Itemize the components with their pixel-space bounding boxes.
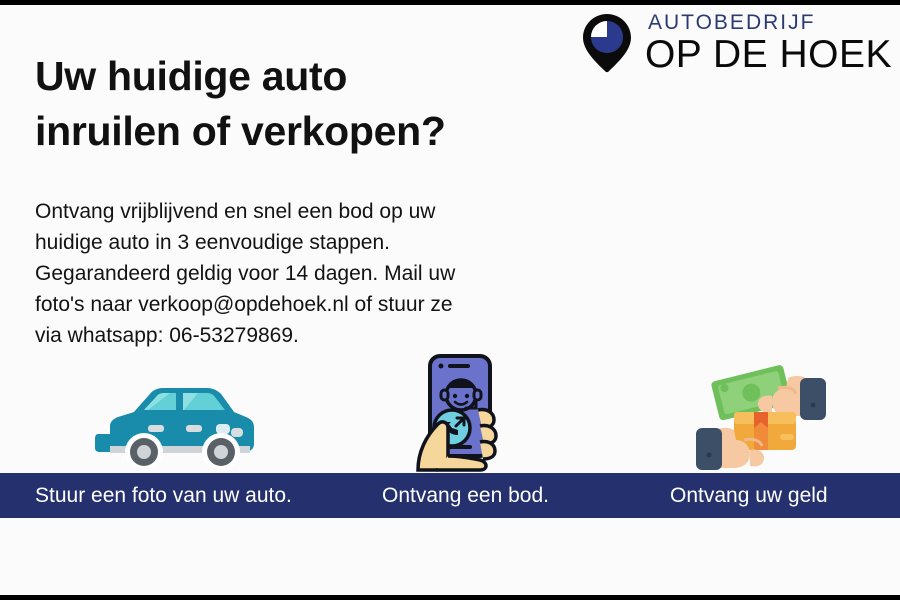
bottom-letterbox-strip (0, 595, 900, 600)
headline-line-2: inruilen of verkopen? (35, 104, 446, 159)
company-logo[interactable]: AUTOBEDRIJF OP DE HOEK (579, 12, 892, 74)
step-2-label: Ontvang een bod. (382, 484, 549, 508)
step-icons-row (0, 348, 900, 474)
logo-wordmark: AUTOBEDRIJF OP DE HOEK (645, 12, 892, 74)
logo-line-opdehoek: OP DE HOEK (645, 35, 892, 74)
top-letterbox-strip (0, 0, 900, 5)
step-2-icon (408, 352, 512, 474)
step-1-icon (88, 364, 258, 474)
step-3-icon (692, 354, 828, 474)
promo-banner: AUTOBEDRIJF OP DE HOEK Uw huidige auto i… (0, 0, 900, 600)
description-line-5: via whatsapp: 06-53279869. (35, 320, 455, 351)
money-exchange-icon (692, 354, 828, 474)
description-line-3: Gegarandeerd geldig voor 14 dagen. Mail … (35, 258, 455, 289)
step-1-label: Stuur een foto van uw auto. (35, 484, 292, 508)
car-icon (88, 364, 258, 474)
description-text: Ontvang vrijblijvend en snel een bod op … (35, 196, 455, 351)
description-line-2: huidige auto in 3 eenvoudige stappen. (35, 227, 455, 258)
page-title: Uw huidige auto inruilen of verkopen? (35, 49, 446, 158)
steps-bar: Stuur een foto van uw auto. Ontvang een … (0, 473, 900, 518)
map-pin-icon (579, 13, 635, 73)
step-3-label: Ontvang uw geld (670, 484, 828, 508)
headline-line-1: Uw huidige auto (35, 49, 446, 104)
description-line-1: Ontvang vrijblijvend en snel een bod op … (35, 196, 455, 227)
logo-line-autobedrijf: AUTOBEDRIJF (645, 12, 892, 33)
description-line-4: foto's naar verkoop@opdehoek.nl of stuur… (35, 289, 455, 320)
phone-in-hand-icon (408, 352, 512, 474)
